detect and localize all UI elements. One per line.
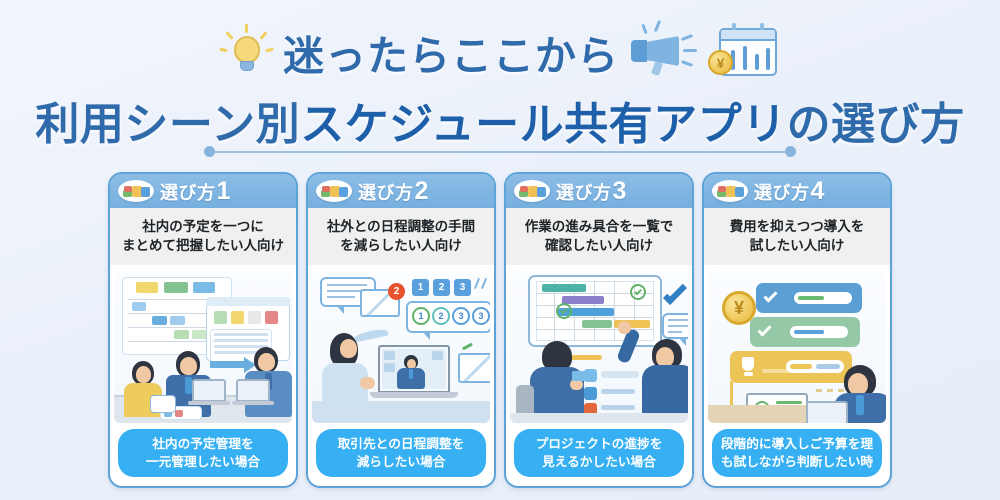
card-4-footer[interactable]: 段階的に導入しご予算を理 も試しながら判断したい時 xyxy=(704,423,890,486)
card-1-footer-pill[interactable]: 社内の予定管理を 一元管理したい場合 xyxy=(118,429,288,477)
card-1[interactable]: 選び方 1 社内の予定を一つに まとめて把握したい人向け xyxy=(108,172,298,488)
card-3-header: 選び方 3 xyxy=(506,174,692,208)
card-2-header: 選び方 2 xyxy=(308,174,494,208)
title-row-secondary: 利用シーン別スケジュール共有アプリの選び方 xyxy=(0,88,1000,152)
card-2-subtitle-line-2: を減らしたい人向け xyxy=(314,236,488,255)
card-grid: 選び方 1 社内の予定を一つに まとめて把握したい人向け xyxy=(0,172,1000,488)
card-4-badge: 選び方 4 xyxy=(754,177,825,206)
card-2-footer-line-1: 取引先との日程調整を xyxy=(324,435,478,453)
card-3-badge-number: 3 xyxy=(613,177,627,206)
megaphone-calendar-cluster: ¥ xyxy=(629,20,779,84)
card-2-badge: 選び方 2 xyxy=(358,177,429,206)
card-2-subtitle: 社外との日程調整の手間 を減らしたい人向け xyxy=(308,208,494,265)
step-square-2: 2 xyxy=(433,279,450,296)
lightbulb-icon xyxy=(221,24,273,80)
card-2-badge-label: 選び方 xyxy=(358,179,414,205)
card-2-illustration: 2 1 2 3 1 2 3 3 xyxy=(312,269,490,423)
card-4[interactable]: 選び方 4 費用を抑えつつ導入を 試したい人向け ¥ xyxy=(702,172,892,488)
card-4-header: 選び方 4 xyxy=(704,174,890,208)
card-4-badge-label: 選び方 xyxy=(754,179,810,205)
mail-unread-badge: 2 xyxy=(388,283,405,300)
card-3-footer-line-2: 見えるかしたい場合 xyxy=(522,453,676,471)
card-3-footer[interactable]: プロジェクトの進捗を 見えるかしたい場合 xyxy=(506,423,692,486)
blocks-badge-icon xyxy=(316,180,352,202)
card-2-footer-line-2: 減らしたい場合 xyxy=(324,453,478,471)
card-1-header: 選び方 1 xyxy=(110,174,296,208)
card-2-subtitle-line-1: 社外との日程調整の手間 xyxy=(314,217,488,236)
title-row-primary: 迷ったらここから ¥ xyxy=(0,22,1000,82)
card-2-badge-number: 2 xyxy=(415,177,429,206)
card-4-subtitle-line-2: 試したい人向け xyxy=(710,236,884,255)
page-title-line-2: 利用シーン別スケジュール共有アプリの選び方 xyxy=(0,88,1000,152)
card-4-illustration: ¥ xyxy=(708,269,886,423)
card-4-footer-line-1: 段階的に導入しご予算を理 xyxy=(720,435,874,453)
card-2-footer[interactable]: 取引先との日程調整を 減らしたい場合 xyxy=(308,423,494,486)
card-1-footer[interactable]: 社内の予定管理を 一元管理したい場合 xyxy=(110,423,296,486)
blocks-badge-icon xyxy=(712,180,748,202)
card-1-footer-line-2: 一元管理したい場合 xyxy=(126,453,280,471)
card-4-subtitle: 費用を抑えつつ導入を 試したい人向け xyxy=(704,208,890,265)
card-4-badge-number: 4 xyxy=(811,177,825,206)
card-1-subtitle: 社内の予定を一つに まとめて把握したい人向け xyxy=(110,208,296,265)
card-1-badge-number: 1 xyxy=(217,177,231,206)
step-square-3: 3 xyxy=(454,279,471,296)
divider-dot-left xyxy=(204,146,215,157)
card-3-subtitle: 作業の進み具合を一覧で 確認したい人向け xyxy=(506,208,692,265)
card-3[interactable]: 選び方 3 作業の進み具合を一覧で 確認したい人向け xyxy=(504,172,694,488)
divider-dot-right xyxy=(785,146,796,157)
card-1-badge-label: 選び方 xyxy=(160,179,216,205)
title-suffix: の選び方 xyxy=(787,100,965,149)
title-divider xyxy=(0,146,1000,157)
card-3-illustration xyxy=(510,269,688,423)
card-1-subtitle-line-2: まとめて把握したい人向け xyxy=(116,236,290,255)
card-3-badge-label: 選び方 xyxy=(556,179,612,205)
card-4-subtitle-line-1: 費用を抑えつつ導入を xyxy=(710,217,884,236)
card-3-footer-line-1: プロジェクトの進捗を xyxy=(522,435,676,453)
blocks-badge-icon xyxy=(514,180,550,202)
title-prefix: 利用シーン別 xyxy=(35,100,300,149)
card-4-footer-pill[interactable]: 段階的に導入しご予算を理 も試しながら判断したい時 xyxy=(712,429,882,477)
card-1-subtitle-line-1: 社内の予定を一つに xyxy=(116,217,290,236)
yen-coin-icon: ¥ xyxy=(708,50,733,75)
page-title-line-1: 迷ったらここから xyxy=(283,22,619,82)
blocks-badge-icon xyxy=(118,180,154,202)
card-2[interactable]: 選び方 2 社外との日程調整の手間 を減らしたい人向け 2 1 2 3 1 xyxy=(306,172,496,488)
card-1-illustration xyxy=(114,269,292,423)
divider-line xyxy=(215,151,785,153)
step-square-1: 1 xyxy=(412,279,429,296)
card-1-badge: 選び方 1 xyxy=(160,177,231,206)
card-2-footer-pill[interactable]: 取引先との日程調整を 減らしたい場合 xyxy=(316,429,486,477)
card-3-subtitle-line-2: 確認したい人向け xyxy=(512,236,686,255)
card-3-footer-pill[interactable]: プロジェクトの進捗を 見えるかしたい場合 xyxy=(514,429,684,477)
card-4-footer-line-2: も試しながら判断したい時 xyxy=(720,453,874,471)
page-header: 迷ったらここから ¥ 利用シーン別スケジュール共有アプリの選び方 xyxy=(0,0,1000,165)
title-accent: スケジュール共有アプリ xyxy=(300,100,786,149)
card-3-badge: 選び方 3 xyxy=(556,177,627,206)
card-1-footer-line-1: 社内の予定管理を xyxy=(126,435,280,453)
card-3-subtitle-line-1: 作業の進み具合を一覧で xyxy=(512,217,686,236)
